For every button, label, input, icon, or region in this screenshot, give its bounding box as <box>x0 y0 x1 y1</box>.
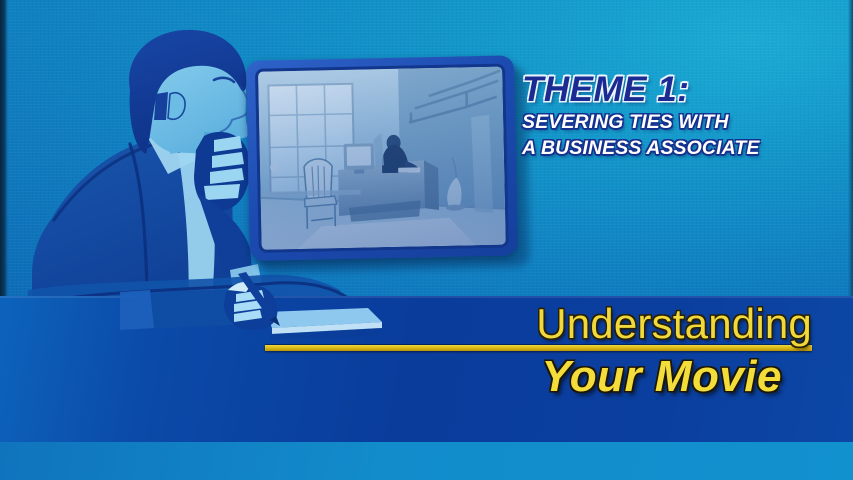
theme-subtitle-line-1: SEVERING TIES WITH <box>522 111 832 134</box>
man-thumb <box>204 184 240 200</box>
theme-heading: THEME 1: <box>522 72 832 108</box>
video-monitor <box>246 55 532 271</box>
program-title-line-1: Understanding <box>0 300 812 348</box>
video-title-card: THEME 1: SEVERING TIES WITH A BUSINESS A… <box>0 0 853 480</box>
bottom-strip <box>0 442 853 480</box>
scene-desk-monitor-stand <box>354 170 364 174</box>
monitor-outer-frame <box>246 55 518 261</box>
scene-person-papers <box>398 167 420 172</box>
program-title-line-2: Your Movie <box>0 352 782 402</box>
man-sideburn <box>154 92 168 120</box>
theme-title-block: THEME 1: SEVERING TIES WITH A BUSINESS A… <box>522 72 832 160</box>
theme-subtitle-line-2: A BUSINESS ASSOCIATE <box>522 137 832 160</box>
scene-desk-side <box>424 160 439 210</box>
office-scene-still <box>258 67 506 250</box>
scene-desk-monitor-screen <box>347 146 371 165</box>
monitor-inner-bezel <box>255 64 509 253</box>
monitor-screen <box>258 67 506 250</box>
